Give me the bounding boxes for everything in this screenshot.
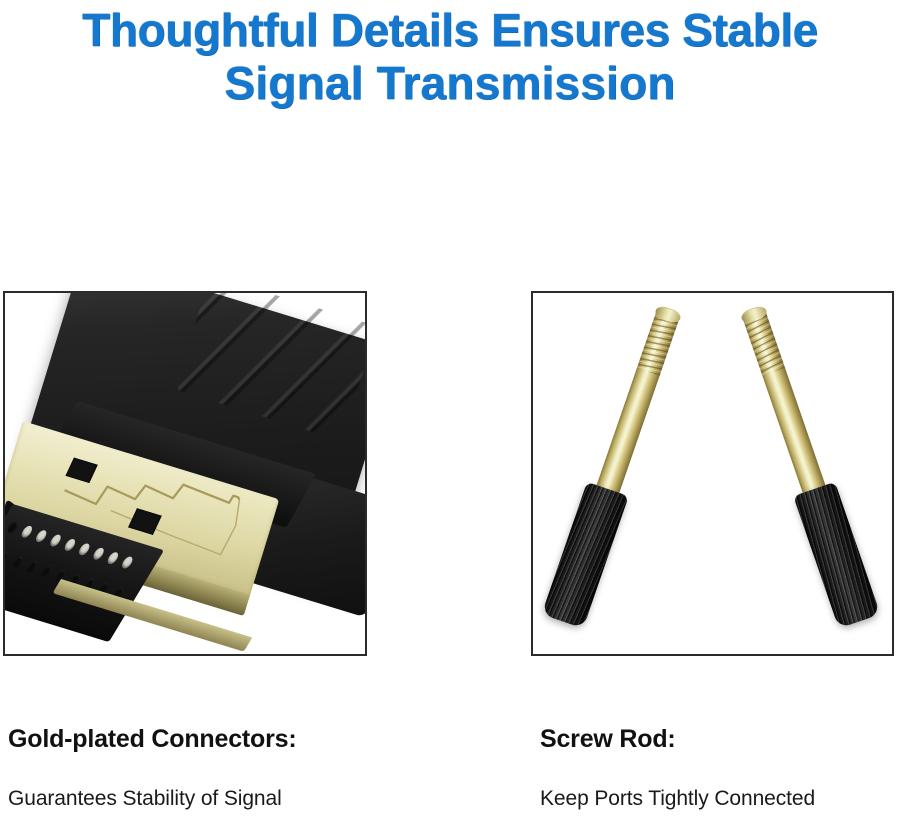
pin-hole xyxy=(48,534,63,548)
pin-hole xyxy=(120,556,135,570)
feature-subtitle: Keep Ports Tightly Connected xyxy=(540,786,890,812)
pin-hole xyxy=(25,560,40,574)
hdmi-connector-image xyxy=(5,293,365,654)
feature-title: Screw Rod: xyxy=(540,724,890,754)
pin-hole xyxy=(63,538,78,552)
pin-hole xyxy=(5,520,20,534)
page-title-line-2: Signal Transmission xyxy=(0,57,900,110)
screw-rod-image xyxy=(533,293,892,654)
feature-image-panel-screw-rod xyxy=(531,291,894,656)
page-title-line-1: Thoughtful Details Ensures Stable xyxy=(0,4,900,57)
feature-subtitle: Guarantees Stability of Signal xyxy=(8,786,488,812)
product-infographic: Thoughtful Details Ensures Stable Signal… xyxy=(0,0,900,818)
page-title: Thoughtful Details Ensures Stable Signal… xyxy=(0,4,900,110)
screw-rod-right xyxy=(739,308,872,620)
pin-hole xyxy=(20,525,35,539)
feature-caption-screw-rod: Screw Rod: Keep Ports Tightly Connected xyxy=(540,724,890,812)
screw-rod-left xyxy=(550,308,683,620)
crossed-screw-rods-illustration xyxy=(533,293,892,654)
feature-caption-gold-plated-connectors: Gold-plated Connectors: Guarantees Stabi… xyxy=(8,724,488,812)
pin-hole xyxy=(39,564,54,578)
feature-title: Gold-plated Connectors: xyxy=(8,724,488,754)
pin-hole xyxy=(34,529,49,543)
pin-hole xyxy=(77,542,92,556)
feature-image-panel-gold-plated-connectors xyxy=(3,291,367,656)
pin-hole xyxy=(91,547,106,561)
screw-rod-grip xyxy=(793,482,880,629)
pin-hole xyxy=(10,555,25,569)
screw-rod-grip xyxy=(542,482,629,629)
hdmi-connector-illustration xyxy=(5,293,365,654)
pin-hole xyxy=(5,551,10,565)
pin-hole xyxy=(106,551,121,565)
